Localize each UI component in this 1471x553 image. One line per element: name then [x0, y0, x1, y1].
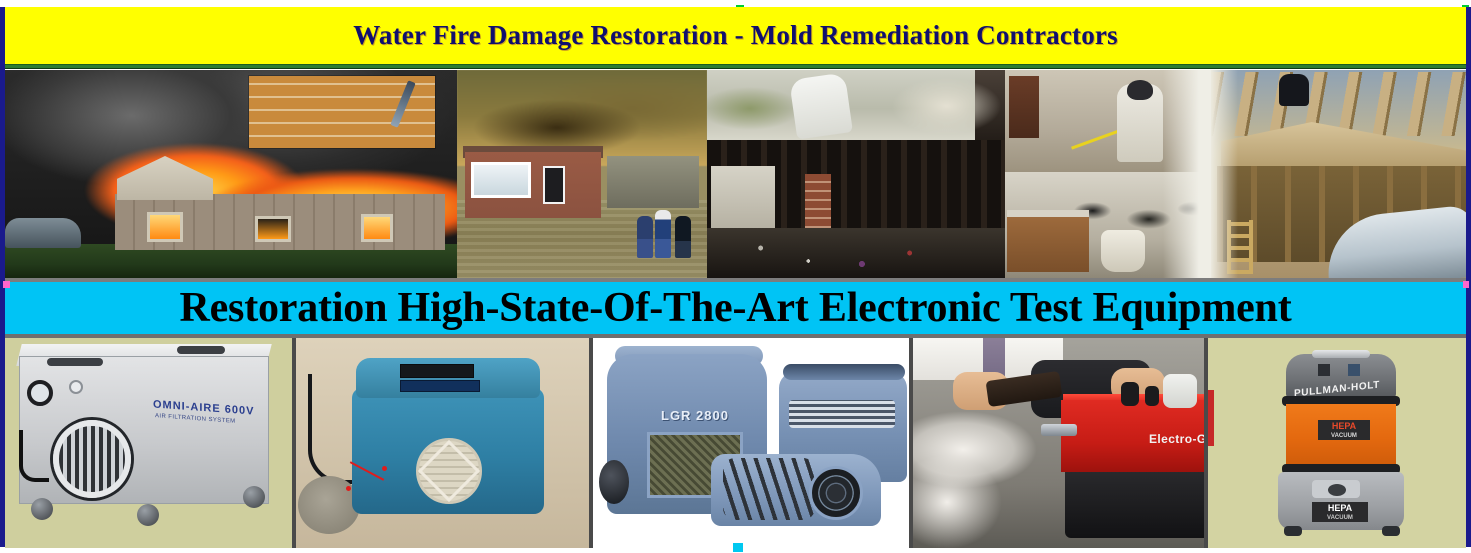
debris-floor — [707, 228, 1005, 278]
blue-machine-annotation-dot-2 — [346, 486, 351, 491]
construction-photo-fade-edge — [1211, 70, 1241, 278]
page-title: Water Fire Damage Restoration - Mold Rem… — [353, 20, 1118, 51]
omni-aire-caster-3 — [243, 486, 265, 508]
photo-house-fire — [5, 70, 457, 278]
photo-mold-remediation — [1005, 70, 1211, 278]
pink-square-marker-right — [1463, 281, 1469, 288]
blue-machine-spec-label — [400, 380, 480, 392]
dehumidifier-wheel — [599, 460, 629, 504]
subtitle-text: Restoration High-State-Of-The-Art Electr… — [179, 284, 1291, 332]
bathroom-toilet — [1101, 230, 1145, 272]
omni-aire-handle-front — [47, 358, 103, 366]
vacuum-left-red-edge — [1208, 390, 1214, 446]
fog-plume — [913, 384, 1103, 548]
hazmat-suit-figure — [789, 72, 853, 139]
fogger-knob-1 — [1121, 382, 1139, 406]
pink-square-marker-left — [3, 281, 10, 288]
vacuum-foot-1 — [1284, 526, 1302, 536]
flood-person-1 — [637, 216, 653, 258]
left-border-rail — [0, 7, 5, 547]
flood-bay-window — [471, 162, 531, 198]
fire-burnt-car — [5, 218, 81, 248]
air-mover-rear-grille — [789, 400, 895, 428]
roof-worker-figure — [1279, 74, 1309, 106]
subtitle-banner: Restoration High-State-Of-The-Art Electr… — [5, 282, 1466, 334]
blue-machine-power-cord — [308, 374, 356, 484]
equipment-pullman-holt-hepa-vacuum: PULLMAN-HOLT HEPA VACUUM HEPA VACUUM — [1208, 338, 1466, 548]
blue-machine-floor-pad — [298, 476, 360, 534]
photo-fire-damaged-interior — [707, 70, 1005, 278]
vacuum-carry-handle — [1312, 350, 1370, 358]
smoke-haze-overlay — [875, 70, 1005, 142]
mold-doorway — [1009, 76, 1039, 138]
vacuum-switch-1 — [1318, 364, 1330, 376]
electro-gen-brand-label: Electro-Gen — [1149, 432, 1204, 446]
flood-garage — [607, 156, 699, 208]
hepa-badge-lower: HEPA VACUUM — [1312, 502, 1368, 522]
damage-photo-strip — [5, 70, 1466, 278]
title-divider-rule — [0, 64, 1471, 69]
hepa-badge-upper-subtext: VACUUM — [1318, 431, 1370, 441]
hepa-badge-upper-text: HEPA — [1332, 421, 1356, 431]
equipment-photo-strip: OMNI-AIRE 600V AIR FILTRATION SYSTEM — [5, 338, 1466, 548]
right-border-rail — [1466, 7, 1471, 547]
fire-window-2 — [255, 216, 291, 242]
equipment-blue-negative-air-machine — [296, 338, 589, 548]
flood-person-3 — [675, 216, 691, 258]
fire-window-1 — [147, 212, 183, 242]
cyan-square-marker-bottom-center — [733, 543, 743, 552]
omni-aire-handle-rear — [177, 346, 225, 354]
hepa-badge-lower-text: HEPA — [1328, 503, 1352, 513]
air-mover-front-housing-ribs — [723, 458, 815, 520]
fogger-knob-2 — [1145, 386, 1159, 406]
blue-machine-annotation-dot-1 — [382, 466, 387, 471]
hepa-badge-lower-subtext: VACUUM — [1312, 513, 1368, 523]
omni-aire-cabinet — [19, 356, 269, 504]
omni-aire-caster-1 — [31, 498, 53, 520]
flood-person-2 — [655, 210, 671, 258]
omni-aire-control-knob — [69, 380, 83, 394]
omni-aire-intake-grille — [53, 420, 131, 498]
photo-flooded-house — [457, 70, 707, 278]
mold-photo-fade-edge — [1163, 70, 1211, 278]
brick-mortar-inset-photo — [249, 76, 435, 148]
fire-window-3 — [361, 214, 393, 242]
title-banner: Water Fire Damage Restoration - Mold Rem… — [0, 7, 1471, 64]
equipment-lgr-2800-dehumidifier: LGR 2800 — [593, 338, 909, 548]
fogger-solution-tank — [1163, 374, 1197, 408]
vacuum-switch-2 — [1348, 364, 1360, 376]
surviving-wall — [711, 166, 775, 236]
omni-aire-power-cord — [19, 430, 49, 482]
air-mover-front-fan — [809, 466, 863, 520]
blue-machine-control-panel — [400, 364, 474, 378]
banner-page: Water Fire Damage Restoration - Mold Rem… — [0, 0, 1471, 553]
equipment-electro-gen-thermal-fogger: Electro-Gen — [913, 338, 1204, 548]
mold-worker-respirator-hood — [1127, 80, 1153, 100]
photo-reconstruction-framing — [1211, 70, 1466, 278]
hepa-badge-upper: HEPA VACUUM — [1318, 420, 1370, 440]
roof-trusses — [1211, 72, 1466, 136]
blue-machine-filter-intake — [416, 438, 482, 504]
air-mover-rear-top-label — [783, 364, 905, 380]
vacuum-hose-port — [1328, 484, 1346, 496]
flood-front-door — [543, 166, 565, 204]
vacuum-foot-2 — [1382, 526, 1400, 536]
bathroom-vanity — [1007, 210, 1089, 272]
equipment-omni-aire-600v: OMNI-AIRE 600V AIR FILTRATION SYSTEM — [5, 338, 292, 548]
omni-aire-caster-2 — [137, 504, 159, 526]
omni-aire-pressure-gauge — [27, 380, 53, 406]
lgr-2800-brand-label: LGR 2800 — [661, 408, 729, 423]
